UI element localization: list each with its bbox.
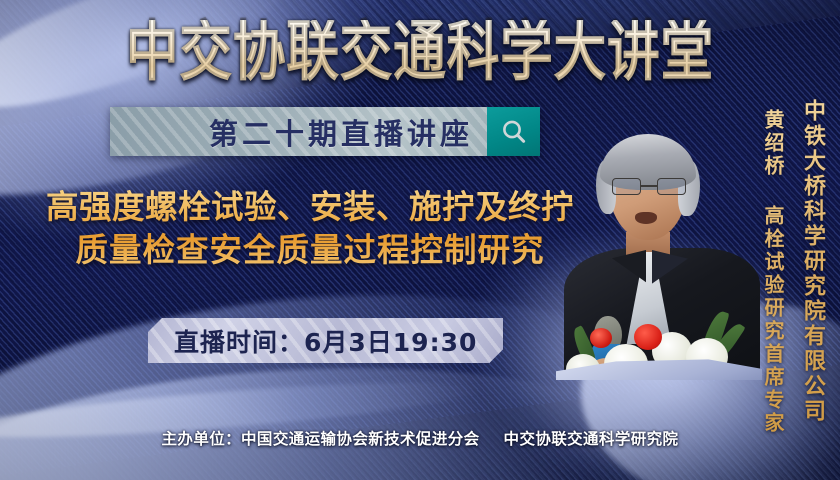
live-broadcast-poster: 中交协联交通科学大讲堂 第二十期直播讲座 高强度螺栓试验、安装、施拧及终拧 质量… — [0, 0, 840, 480]
organizer-prefix: 主办单位：中国交通运输协会新技术促进分会 — [162, 430, 480, 448]
episode-bar-body: 第二十期直播讲座 — [110, 107, 487, 156]
page-title: 中交协联交通科学大讲堂 — [0, 20, 840, 73]
speaker-name-role: 黄绍桥 高栓试验研究首席专家 — [759, 109, 788, 435]
episode-bar: 第二十期直播讲座 — [110, 107, 540, 156]
broadcast-time-label: 直播时间：6月3日19:30 — [174, 323, 477, 359]
lecture-headline: 高强度螺栓试验、安装、施拧及终拧 质量检查安全质量过程控制研究 — [10, 186, 610, 272]
search-icon[interactable] — [487, 107, 540, 156]
broadcast-time-badge: 直播时间：6月3日19:30 — [148, 318, 503, 363]
main-title-text: 中交协联交通科学大讲堂 — [126, 20, 714, 85]
speaker-organization: 中铁大桥科学研究院有限公司 — [796, 99, 828, 424]
headline-line-2: 质量检查安全质量过程控制研究 — [10, 229, 610, 272]
headline-line-1: 高强度螺栓试验、安装、施拧及终拧 — [46, 188, 574, 226]
organizer-footer: 主办单位：中国交通运输协会新技术促进分会中交协联交通科学研究院 — [0, 427, 840, 449]
organizer-suffix: 中交协联交通科学研究院 — [504, 430, 679, 448]
episode-label: 第二十期直播讲座 — [110, 107, 487, 156]
